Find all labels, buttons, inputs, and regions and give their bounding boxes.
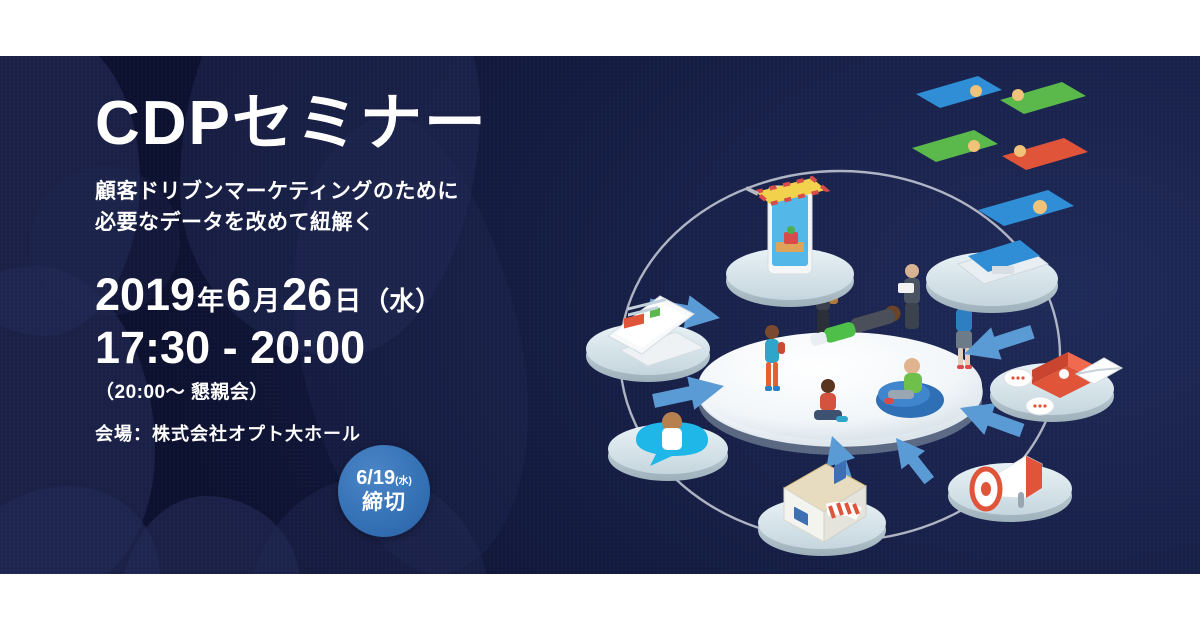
social-cards bbox=[912, 76, 1088, 226]
physical-store-node bbox=[758, 460, 886, 556]
banner-background: CDPセミナー 顧客ドリブンマーケティングのために 必要なデータを改めて紐解く … bbox=[0, 56, 1200, 574]
deadline-label: 締切 bbox=[362, 491, 406, 514]
mobile-commerce-node bbox=[726, 178, 854, 307]
party-note: （20:00〜 懇親会） bbox=[95, 377, 565, 404]
banner-subtitle: 顧客ドリブンマーケティングのために 必要なデータを改めて紐解く bbox=[95, 177, 565, 238]
date-month-unit: 月 bbox=[251, 288, 282, 315]
deadline-weekday: (水) bbox=[395, 477, 412, 487]
date-year-unit: 年 bbox=[195, 288, 226, 315]
event-venue: 会場：株式会社オプト大ホール bbox=[95, 420, 565, 446]
deadline-badge: 6/19 (水) 締切 bbox=[338, 445, 430, 537]
banner-stage: CDPセミナー 顧客ドリブンマーケティングのために 必要なデータを改めて紐解く … bbox=[0, 0, 1200, 630]
cdp-ecosystem-illustration bbox=[540, 56, 1200, 574]
page-title: CDPセミナー bbox=[95, 92, 565, 155]
subtitle-line-1: 顧客ドリブンマーケティングのために bbox=[95, 177, 565, 207]
deadline-date-row: 6/19 (水) bbox=[356, 468, 412, 488]
date-year: 2019 bbox=[95, 272, 195, 317]
top-white-band bbox=[0, 0, 1200, 56]
event-date: 2019 年 6 月 26 日 （水） bbox=[95, 272, 565, 317]
date-day-unit: 日 bbox=[332, 288, 363, 315]
date-weekday: （水） bbox=[363, 288, 441, 314]
subtitle-line-2: 必要なデータを改めて紐解く bbox=[95, 208, 565, 238]
social-media-node bbox=[912, 76, 1088, 313]
bottom-white-band bbox=[0, 574, 1200, 630]
date-month: 6 bbox=[226, 272, 251, 317]
date-day: 26 bbox=[282, 272, 332, 317]
banner-copy: CDPセミナー 顧客ドリブンマーケティングのために 必要なデータを改めて紐解く … bbox=[95, 92, 565, 446]
event-time: 17:30 - 20:00 bbox=[95, 323, 565, 373]
deadline-date: 6/19 bbox=[356, 468, 395, 488]
video-email-node bbox=[990, 352, 1122, 422]
advertising-node bbox=[948, 456, 1072, 522]
